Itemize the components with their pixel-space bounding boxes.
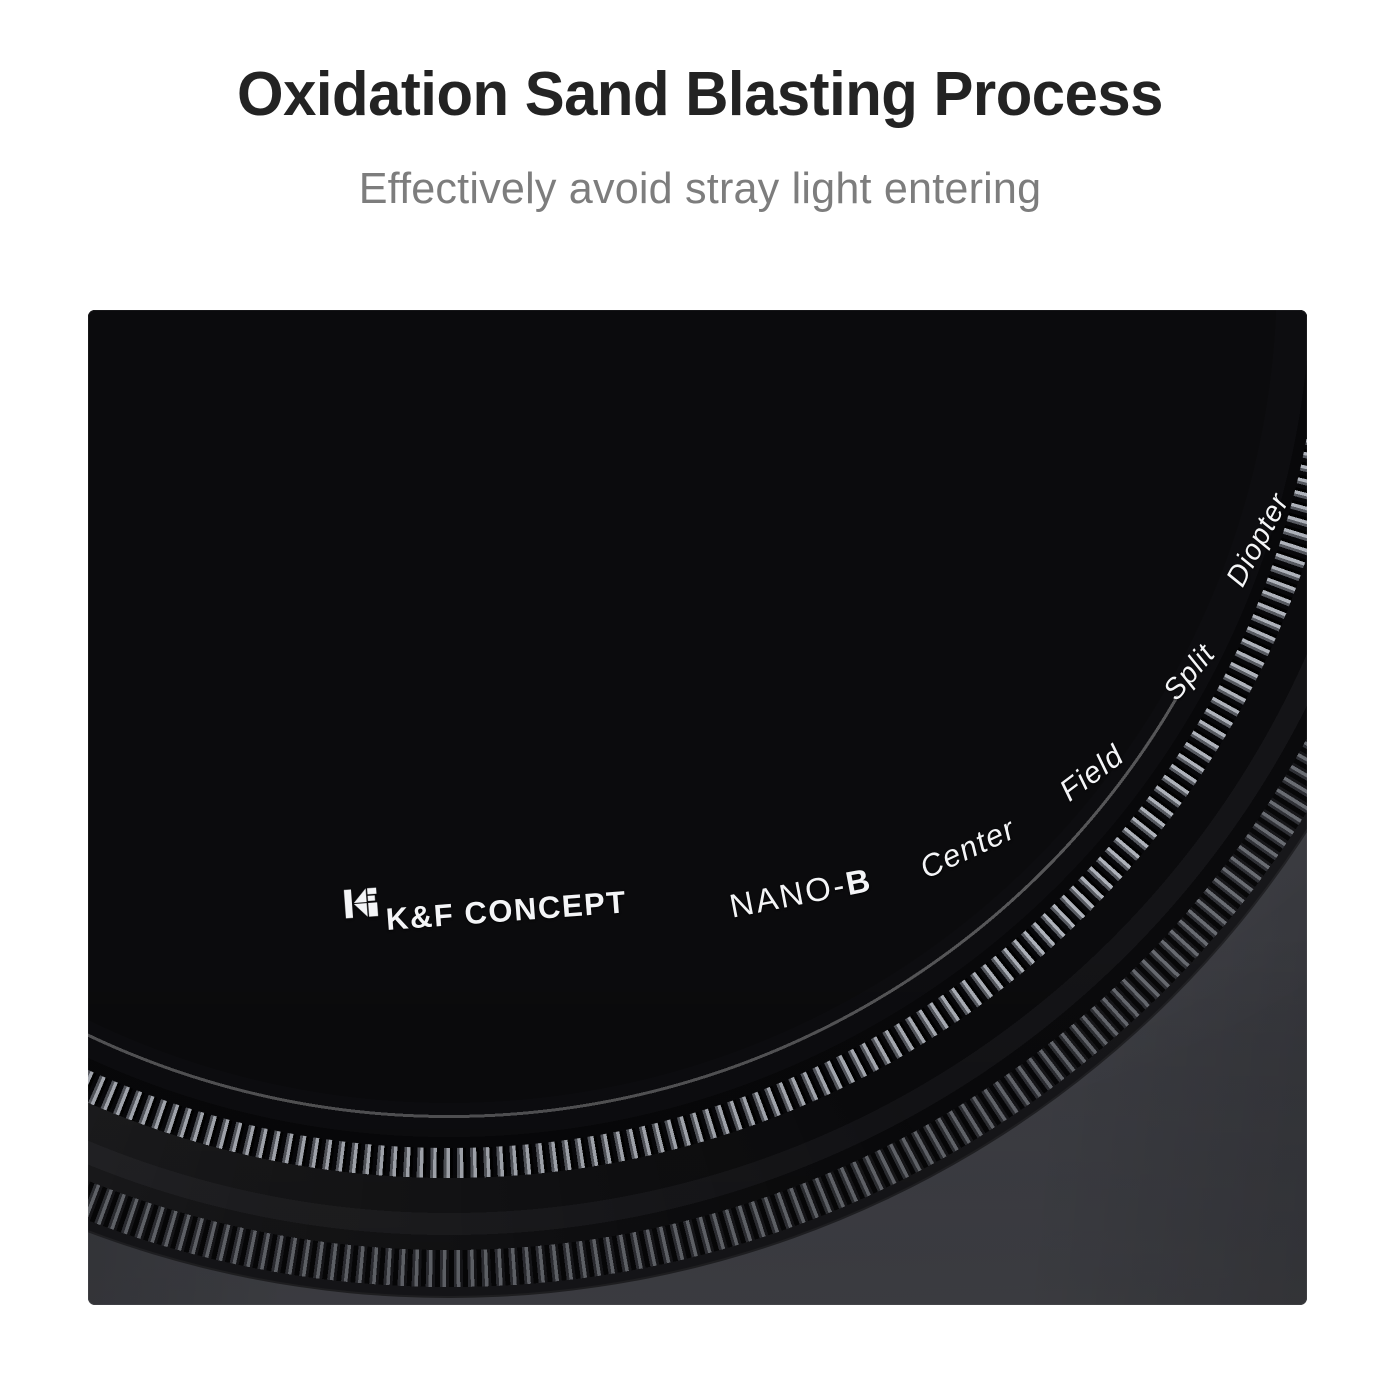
scene-vignette — [88, 310, 1307, 1305]
product-feature-page: Oxidation Sand Blasting Process Effectiv… — [0, 0, 1400, 1400]
header: Oxidation Sand Blasting Process Effectiv… — [0, 0, 1400, 213]
product-photo — [88, 310, 1307, 1305]
page-subtitle: Effectively avoid stray light entering — [14, 165, 1386, 213]
page-title: Oxidation Sand Blasting Process — [25, 62, 1376, 129]
